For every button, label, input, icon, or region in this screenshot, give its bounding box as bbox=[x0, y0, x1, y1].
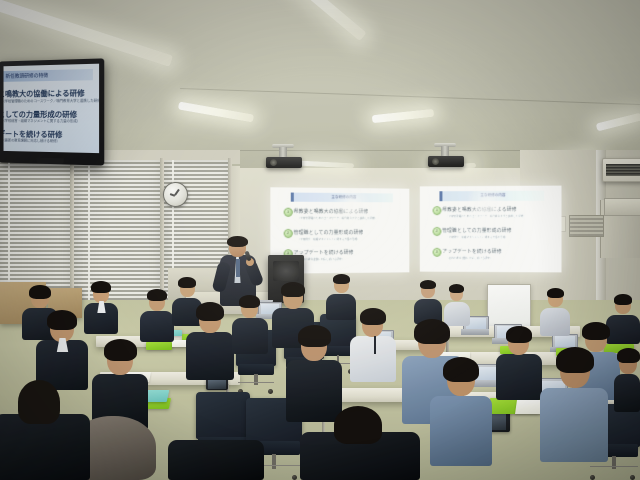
participant-foreground bbox=[300, 418, 420, 480]
window-frame bbox=[70, 158, 74, 308]
tv-mount bbox=[36, 158, 63, 165]
ceiling-light bbox=[178, 101, 254, 122]
projection-screen-right: 主な研修の内容 1 県教委と鳴教大の協働による研修 （学校管理職のためのコースワ… bbox=[420, 186, 562, 273]
ceiling-light bbox=[596, 113, 640, 132]
slide-item-text: 管理職としての力量形成の研修 bbox=[442, 227, 511, 234]
participant bbox=[286, 330, 342, 422]
slide-item-sub: （学校管理職のためのコースワーク／鳴門教育大学と連携した研修） bbox=[446, 214, 526, 218]
participant bbox=[540, 352, 608, 462]
slide-item-number: 1 bbox=[432, 206, 441, 215]
tv-screen: 新任教頭研修の特徴 と鳴教大の協働による研修 （学校管理職のためのコースワーク／… bbox=[4, 64, 100, 153]
participant bbox=[36, 314, 88, 390]
slide-item-text: 県教委と鳴教大の協働による研修 bbox=[442, 206, 516, 213]
participant bbox=[614, 352, 640, 412]
ceiling-projector-icon bbox=[428, 156, 464, 167]
slide-item-text: 県教委と鳴教大の協働による研修 bbox=[293, 207, 368, 214]
slide-item: 3 アップデートを続ける研修 （最新の教育課題に対応し続ける研修） bbox=[283, 249, 400, 250]
slide-item-sub: （学校経営・組織マネジメントに関する力量の形成） bbox=[297, 237, 359, 241]
participant bbox=[540, 290, 570, 336]
slide-item-number: 3 bbox=[432, 248, 441, 257]
participant bbox=[186, 306, 234, 380]
participant bbox=[496, 330, 542, 400]
air-conditioner-icon bbox=[602, 158, 640, 182]
wall-mounted-tv: 新任教頭研修の特徴 と鳴教大の協働による研修 （学校管理職のためのコースワーク／… bbox=[0, 58, 104, 165]
participant bbox=[444, 286, 470, 326]
slide-item-text: 管理職としての力量形成の研修 bbox=[293, 229, 363, 236]
ceiling-light bbox=[0, 0, 173, 67]
slide-item-sub: （学校管理職のためのコースワーク／鳴門教育大学と連携した研修） bbox=[297, 215, 377, 219]
participant-foreground bbox=[168, 434, 264, 480]
green-folder[interactable] bbox=[146, 342, 172, 350]
training-room-photo: 主な研修の内容 1 県教委と鳴教大の協働による研修 （学校管理職のためのコースワ… bbox=[0, 0, 640, 480]
participant bbox=[350, 312, 396, 382]
slide-item-number: 2 bbox=[432, 227, 441, 236]
slide-item-number: 1 bbox=[283, 207, 292, 216]
participant bbox=[414, 282, 442, 324]
slide-title: 主な研修の内容 bbox=[290, 193, 393, 203]
wall-vent-icon bbox=[569, 215, 604, 237]
tv-title-bar: 新任教頭研修の特徴 bbox=[4, 69, 94, 81]
slide-item-sub: （最新の教育課題に対応し続ける研修） bbox=[446, 256, 492, 260]
participant bbox=[140, 292, 174, 342]
participant-foreground bbox=[0, 380, 90, 480]
duct-box bbox=[604, 198, 640, 216]
tv-sub: （最新の教育課題に対応し続ける研修） bbox=[4, 137, 98, 144]
slide-item: 1 県教委と鳴教大の協働による研修 （学校管理職のためのコースワーク／鳴門教育大… bbox=[283, 207, 400, 208]
participant bbox=[430, 362, 492, 466]
participant bbox=[232, 298, 268, 354]
window-frame bbox=[160, 158, 164, 308]
tv-sub: （学校経営・組織マネジメントに関する力量の形成） bbox=[4, 118, 98, 123]
wall-clock-icon bbox=[163, 182, 188, 207]
ceiling-projector-icon bbox=[266, 157, 302, 168]
slide-item-number: 2 bbox=[283, 229, 292, 238]
slide-item-text: アップデートを続ける研修 bbox=[442, 248, 502, 255]
ceiling-light bbox=[372, 109, 434, 123]
slide-item-sub: （学校経営・組織マネジメントに関する力量の形成） bbox=[446, 235, 508, 239]
tv-sub: （学校管理職のためのコースワーク／鳴門教育大学と連携した研修） bbox=[4, 98, 98, 104]
slide-item-sub: （最新の教育課題に対応し続ける研修） bbox=[297, 257, 344, 261]
ceiling-light bbox=[289, 0, 367, 41]
participant bbox=[84, 284, 118, 334]
slide-title: 主な研修の内容 bbox=[439, 191, 544, 201]
